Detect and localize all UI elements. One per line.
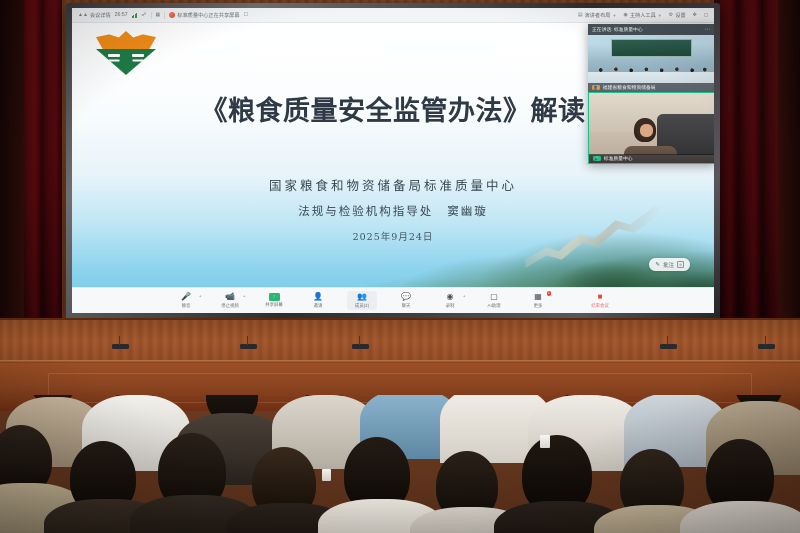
slide-presenter-name: 窦幽璇 [447,204,488,218]
toolbar-label: 静音 [182,303,191,309]
slide-org-line: 国家粮食和物资储备局标准质量中心 [72,175,714,194]
video-tile-remote[interactable]: 🎤 正在讲话: 标准质量中心 ⋯ 👤 🎤 福建省粮食和物资储备局 [588,24,714,92]
slide-date-line: 2025年9月24日 [72,229,714,243]
water-cup [322,469,331,481]
invite-person-icon: 👤 [313,292,323,301]
microphone-icon: 🎤 [181,292,191,301]
leave-meeting-icon: ■ [595,292,605,301]
slide-subtitle-block: 国家粮食和物资储备局标准质量中心 法规与检验机构指导处窦幽璇 2025年9月24… [72,175,714,243]
desk-microphone [660,344,677,349]
end-meeting-label: 结束会议 [591,303,609,309]
slide-dept-line: 法规与检验机构指导处窦幽璇 [72,203,714,219]
layout-label: 演讲者布局 [585,12,611,19]
logo-top-shape [96,31,156,50]
active-speaker-bar: 🎤 正在讲话: 标准质量中心 ⋯ [588,24,714,35]
expand-square-icon[interactable]: ⊕ [677,261,684,268]
camera-icon: 📹 [225,292,235,301]
minimize-icon[interactable]: ✥ [693,13,697,18]
meeting-top-bar: ▲▲ 会议详情 26:57 ☍ ▦ 标准质量中心正在共享屏幕 ☐ [72,8,714,23]
notice-close-icon[interactable]: ☐ [244,13,248,18]
toolbar-chat-button[interactable]: 💬 聊天 [391,292,421,309]
desk-microphone [352,344,369,349]
notification-badge: 1 [547,291,551,296]
toolbar-more-button[interactable]: ▦ 更多 1 [523,292,553,309]
meeting-toolbar: 🎤 静音 ▲ 📹 停止视频 ▲ ↑ 共享屏幕 👤 邀请 [72,287,714,313]
meeting-info-button[interactable]: ▲▲ 会议详情 [78,12,111,19]
toolbar-stop-video-button[interactable]: 📹 停止视频 ▲ [215,292,245,309]
host-tools-label: 主持人工具 [630,12,656,19]
host-tools-button[interactable]: ◉ 主持人工具 ▼ [623,12,661,19]
toolbar-label: 聊天 [402,303,411,309]
video-tile-name: 标准质量中心 [604,155,633,162]
toolbar-label: 共享屏幕 [265,302,283,308]
toolbar-ai-assistant-button[interactable]: ▢ AI助理 [479,292,509,309]
meeting-timer: 26:57 [115,12,128,18]
video-tile-name-bar: 👤 🎤 福建省粮食和物资储备局 [588,83,714,92]
sharing-notice-label: 标准质量中心正在共享屏幕 [177,12,239,19]
toolbar-label: 成员(2) [355,303,369,309]
desk-microphone [112,344,129,349]
record-icon: ◉ [445,292,455,301]
sharing-notice: 标准质量中心正在共享屏幕 [169,12,239,19]
toolbar-label: 邀请 [314,303,323,309]
layout-selector[interactable]: ▤ 演讲者布局 ▼ [578,12,617,19]
expand-icon[interactable]: ☍ [141,13,146,18]
gear-icon: ⚙ [669,13,673,18]
settings-button[interactable]: ⚙ 设置 [669,12,686,19]
window-icon[interactable]: ◻ [704,13,708,18]
speaking-badge-icon: 🎤 [593,156,601,161]
annotate-button[interactable]: ✎ 批注 ⊕ [649,258,690,271]
video-thumbnail-panel[interactable]: 🎤 正在讲话: 标准质量中心 ⋯ 👤 🎤 福建省粮食和物资储备局 [588,24,714,164]
divider [151,12,152,19]
end-meeting-button[interactable]: ■ 结束会议 [585,292,615,309]
divider [164,12,165,19]
share-screen-icon: ↑ [269,293,280,301]
chevron-down-icon: ▼ [613,13,617,18]
audience-area [0,395,800,533]
toolbar-record-button[interactable]: ◉ 录制 ▲ [435,292,465,309]
conference-room-photo: ▲▲ 会议详情 26:57 ☍ ▦ 标准质量中心正在共享屏幕 ☐ [0,0,800,533]
logo-bottom-shape [96,49,156,75]
audience-shoulder [680,501,800,533]
toolbar-invite-button[interactable]: 👤 邀请 [303,292,333,309]
remote-room-screen [611,39,692,57]
presenter-video [589,93,714,163]
slide-dept-label: 法规与检验机构指导处 [298,204,433,218]
ai-assistant-icon: ▢ [489,292,499,301]
grid-view-icon[interactable]: ▦ [156,13,161,18]
signal-bars-icon [132,13,138,18]
pencil-icon: ✎ [655,262,660,268]
host-tools-icon: ◉ [623,13,627,18]
presenter-face [640,124,653,137]
wall-edge-right [778,0,800,330]
toolbar-label: AI助理 [488,303,501,309]
meeting-info-icon: ▲▲ [78,13,88,18]
annotate-label: 批注 [663,261,674,269]
more-dots-icon[interactable]: ⋯ [705,26,712,33]
chevron-up-icon[interactable]: ▲ [199,294,202,298]
video-tile-name: 福建省粮食和物资储备局 [603,84,656,91]
desk-microphone [758,344,775,349]
recording-dot-icon [169,12,175,18]
toolbar-label: 停止视频 [221,303,239,309]
more-grid-icon: ▦ [533,292,543,301]
video-tile-name-bar: 🎤 标准质量中心 👤 [589,154,714,163]
display-screen-bezel: ▲▲ 会议详情 26:57 ☍ ▦ 标准质量中心正在共享屏幕 ☐ [66,3,720,321]
active-speaker-label: 正在讲话: 标准质量中心 [592,26,643,33]
chevron-up-icon[interactable]: ▲ [463,294,466,298]
toolbar-share-screen-button[interactable]: ↑ 共享屏幕 [259,293,289,309]
participants-icon: 👥 [357,292,367,301]
toolbar-mute-button[interactable]: 🎤 静音 ▲ [171,292,201,309]
toolbar-label: 录制 [446,303,455,309]
meeting-info-label: 会议详情 [90,12,111,19]
toolbar-participants-button[interactable]: 👥 成员(2) [347,291,377,310]
desk-microphone [240,344,257,349]
chevron-up-icon[interactable]: ▲ [243,294,246,298]
wall-edge-left [0,0,24,330]
video-tile-self[interactable]: 🎤 标准质量中心 👤 [588,92,714,164]
chevron-down-icon: ▼ [658,13,662,18]
layout-icon: ▤ [578,13,583,18]
grain-bureau-logo [94,31,158,73]
meeting-app-window: ▲▲ 会议详情 26:57 ☍ ▦ 标准质量中心正在共享屏幕 ☐ [72,8,714,313]
chat-icon: 💬 [401,292,411,301]
host-badge-icon: 👤 [592,85,600,90]
water-cup [540,435,550,448]
settings-label: 设置 [675,12,685,19]
toolbar-label: 更多 [534,303,543,309]
